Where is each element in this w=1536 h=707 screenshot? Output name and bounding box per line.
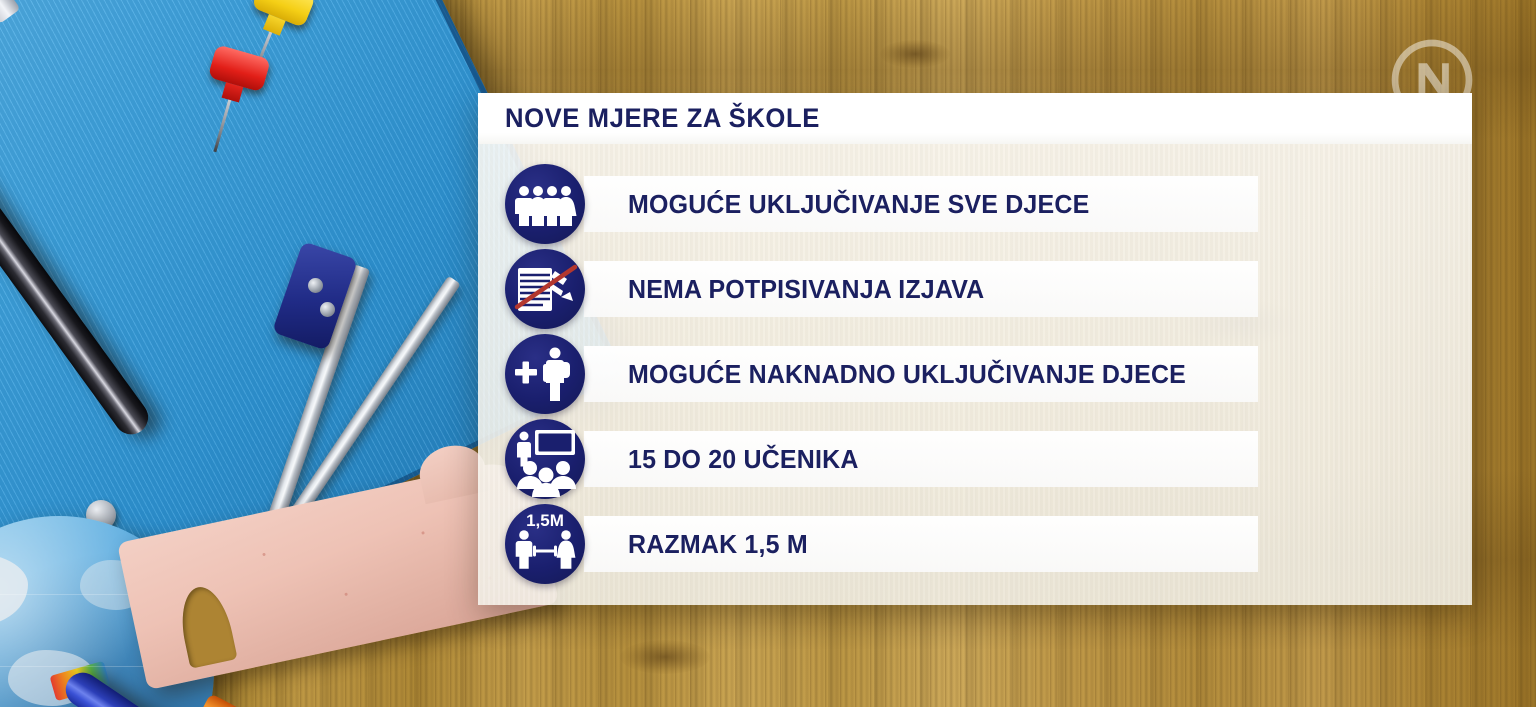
social-distance-1-5m-icon: 1,5M — [505, 504, 585, 584]
list-item-label: RAZMAK 1,5 M — [628, 529, 808, 560]
compass-screw — [320, 302, 335, 317]
list-item: 1,5M — [505, 516, 1258, 572]
distance-label-text: 1,5M — [526, 511, 564, 530]
list-item-label: MOGUĆE NAKNADNO UKLJUČIVANJE DJECE — [628, 359, 1186, 390]
page-title: NOVE MJERE ZA ŠKOLE — [505, 103, 820, 134]
panel-body: MOGUĆE UKLJUČIVANJE SVE DJECE — [478, 144, 1472, 605]
list-item: 15 DO 20 UČENIKA — [505, 431, 1258, 487]
classroom-teacher-board-icon — [505, 419, 585, 499]
wood-knot — [880, 40, 950, 68]
group-of-people-icon — [505, 164, 585, 244]
no-document-signing-icon — [505, 249, 585, 329]
list-item-label: NEMA POTPISIVANJA IZJAVA — [628, 274, 984, 305]
list-item: MOGUĆE UKLJUČIVANJE SVE DJECE — [505, 176, 1258, 232]
list-item: MOGUĆE NAKNADNO UKLJUČIVANJE DJECE — [505, 346, 1258, 402]
lower-third-graphic-panel: NOVE MJERE ZA ŠKOLE — [478, 93, 1472, 605]
plus-student-with-backpack-icon — [505, 334, 585, 414]
list-item: NEMA POTPISIVANJA IZJAVA — [505, 261, 1258, 317]
broadcast-frame: NOVE MJERE ZA ŠKOLE — [0, 0, 1536, 707]
list-item-label: MOGUĆE UKLJUČIVANJE SVE DJECE — [628, 189, 1089, 220]
list-item-label: 15 DO 20 UČENIKA — [628, 444, 859, 475]
wood-knot — [620, 640, 710, 674]
panel-header: NOVE MJERE ZA ŠKOLE — [478, 93, 1472, 144]
compass-screw — [308, 278, 323, 293]
